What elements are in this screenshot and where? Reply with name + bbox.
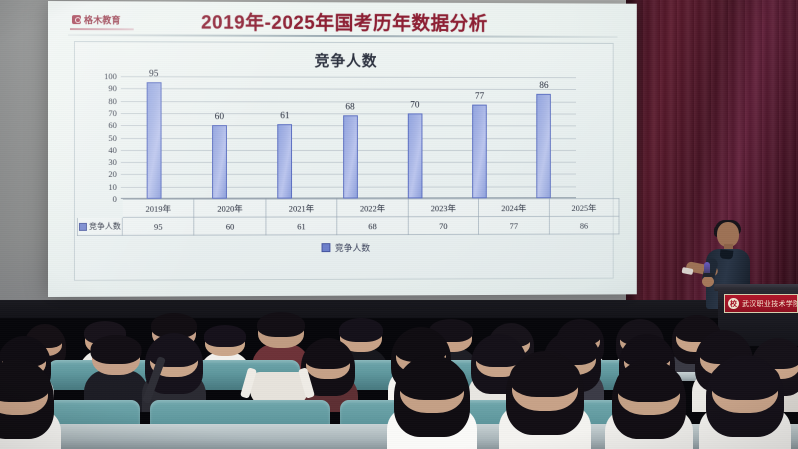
y-axis-tick-label: 20 [108,169,116,179]
y-axis-tick-label: 90 [108,83,116,93]
legend-label: 竞争人数 [335,241,370,254]
table-cell-value: 61 [266,217,337,235]
y-axis-tick-label: 70 [108,108,116,118]
person-hair [91,335,142,364]
y-axis-tick-label: 40 [108,145,116,155]
chart-gridline [121,88,576,90]
podium-banner-text: 武汉职业技术学院 [742,299,798,309]
presenter-hand [702,276,714,287]
audience-member [0,363,48,449]
bar-value-label: 70 [410,100,419,110]
person-hair [616,364,682,402]
audience-member [512,355,578,449]
table-row: 2019年2020年2021年2022年2023年2024年2025年 [77,199,618,218]
bar-value-label: 77 [475,92,484,102]
y-axis-tick-label: 60 [108,120,116,130]
chart-bar [277,124,292,198]
y-axis-tick-label: 50 [108,133,116,143]
table-corner-cell [77,199,122,217]
chart-title: 竞争人数 [75,49,613,71]
chart-container: 竞争人数 10090807060504030201009560616870778… [74,41,614,281]
presenter-collar [720,249,734,259]
audience-member [712,359,778,449]
audience-row-front [0,382,798,449]
table-column-header: 2025年 [549,199,619,217]
slide-title: 2019年-2025年国考历年数据分析 [48,7,637,36]
table-row: 竞争人数95606168707786 [77,216,618,235]
table-cell-value: 95 [122,217,194,235]
chart-bar [343,116,358,199]
table-column-header: 2021年 [266,199,337,217]
table-column-header: 2020年 [194,199,266,217]
person-hair [398,360,466,399]
person-hair [257,312,305,338]
table-row-header: 竞争人数 [77,217,122,235]
y-axis-tick-label: 80 [108,96,116,106]
projection-screen: 格木教育 2019年-2025年国考历年数据分析 竞争人数 1009080706… [48,1,637,297]
slide-header: 格木教育 2019年-2025年国考历年数据分析 [48,1,637,43]
chart-bar [212,125,227,198]
table-column-header: 2023年 [408,199,479,217]
bar-value-label: 60 [215,112,224,122]
legend-swatch-icon [79,222,87,230]
legend-swatch-icon [322,243,331,252]
university-seal-icon: 校 [728,298,739,309]
table-column-header: 2019年 [122,199,194,217]
table-cell-value: 86 [549,216,619,234]
y-axis-tick-label: 30 [108,157,116,167]
bar-value-label: 86 [539,81,548,91]
person-hair [305,344,352,370]
person-hair [510,356,580,397]
chart-gridline [121,76,576,78]
table-row-header-label: 竞争人数 [89,221,121,232]
table-column-header: 2022年 [337,199,408,217]
table-cell-value: 60 [194,217,266,235]
y-axis-tick-label: 10 [108,182,116,192]
chart-bar [408,113,423,198]
lecture-hall-photo: 格木教育 2019年-2025年国考历年数据分析 竞争人数 1009080706… [0,0,798,449]
chart-bar [472,105,487,198]
chart-data-table: 2019年2020年2021年2022年2023年2024年2025年竞争人数9… [77,198,619,236]
bar-value-label: 68 [345,103,354,113]
bar-value-label: 61 [280,111,289,121]
chart-bar [146,82,161,198]
chart-plot-area: 100908070605040302010095606168707786 [121,76,576,199]
chart-bar [537,94,552,198]
person-hair [710,360,780,399]
audience-member [400,359,464,449]
chart-gridline [121,113,576,114]
table-cell-value: 68 [337,217,408,235]
table-column-header: 2024年 [479,199,549,217]
bar-value-label: 95 [149,69,158,79]
table-cell-value: 70 [408,217,479,235]
table-cell-value: 77 [479,216,549,234]
audience-member [618,363,680,449]
chart-legend: 竞争人数 [75,240,613,255]
y-axis-tick-label: 100 [104,71,117,81]
presenter-watch [703,273,714,277]
podium-banner: 校 武汉职业技术学院 图书馆 [724,294,798,313]
